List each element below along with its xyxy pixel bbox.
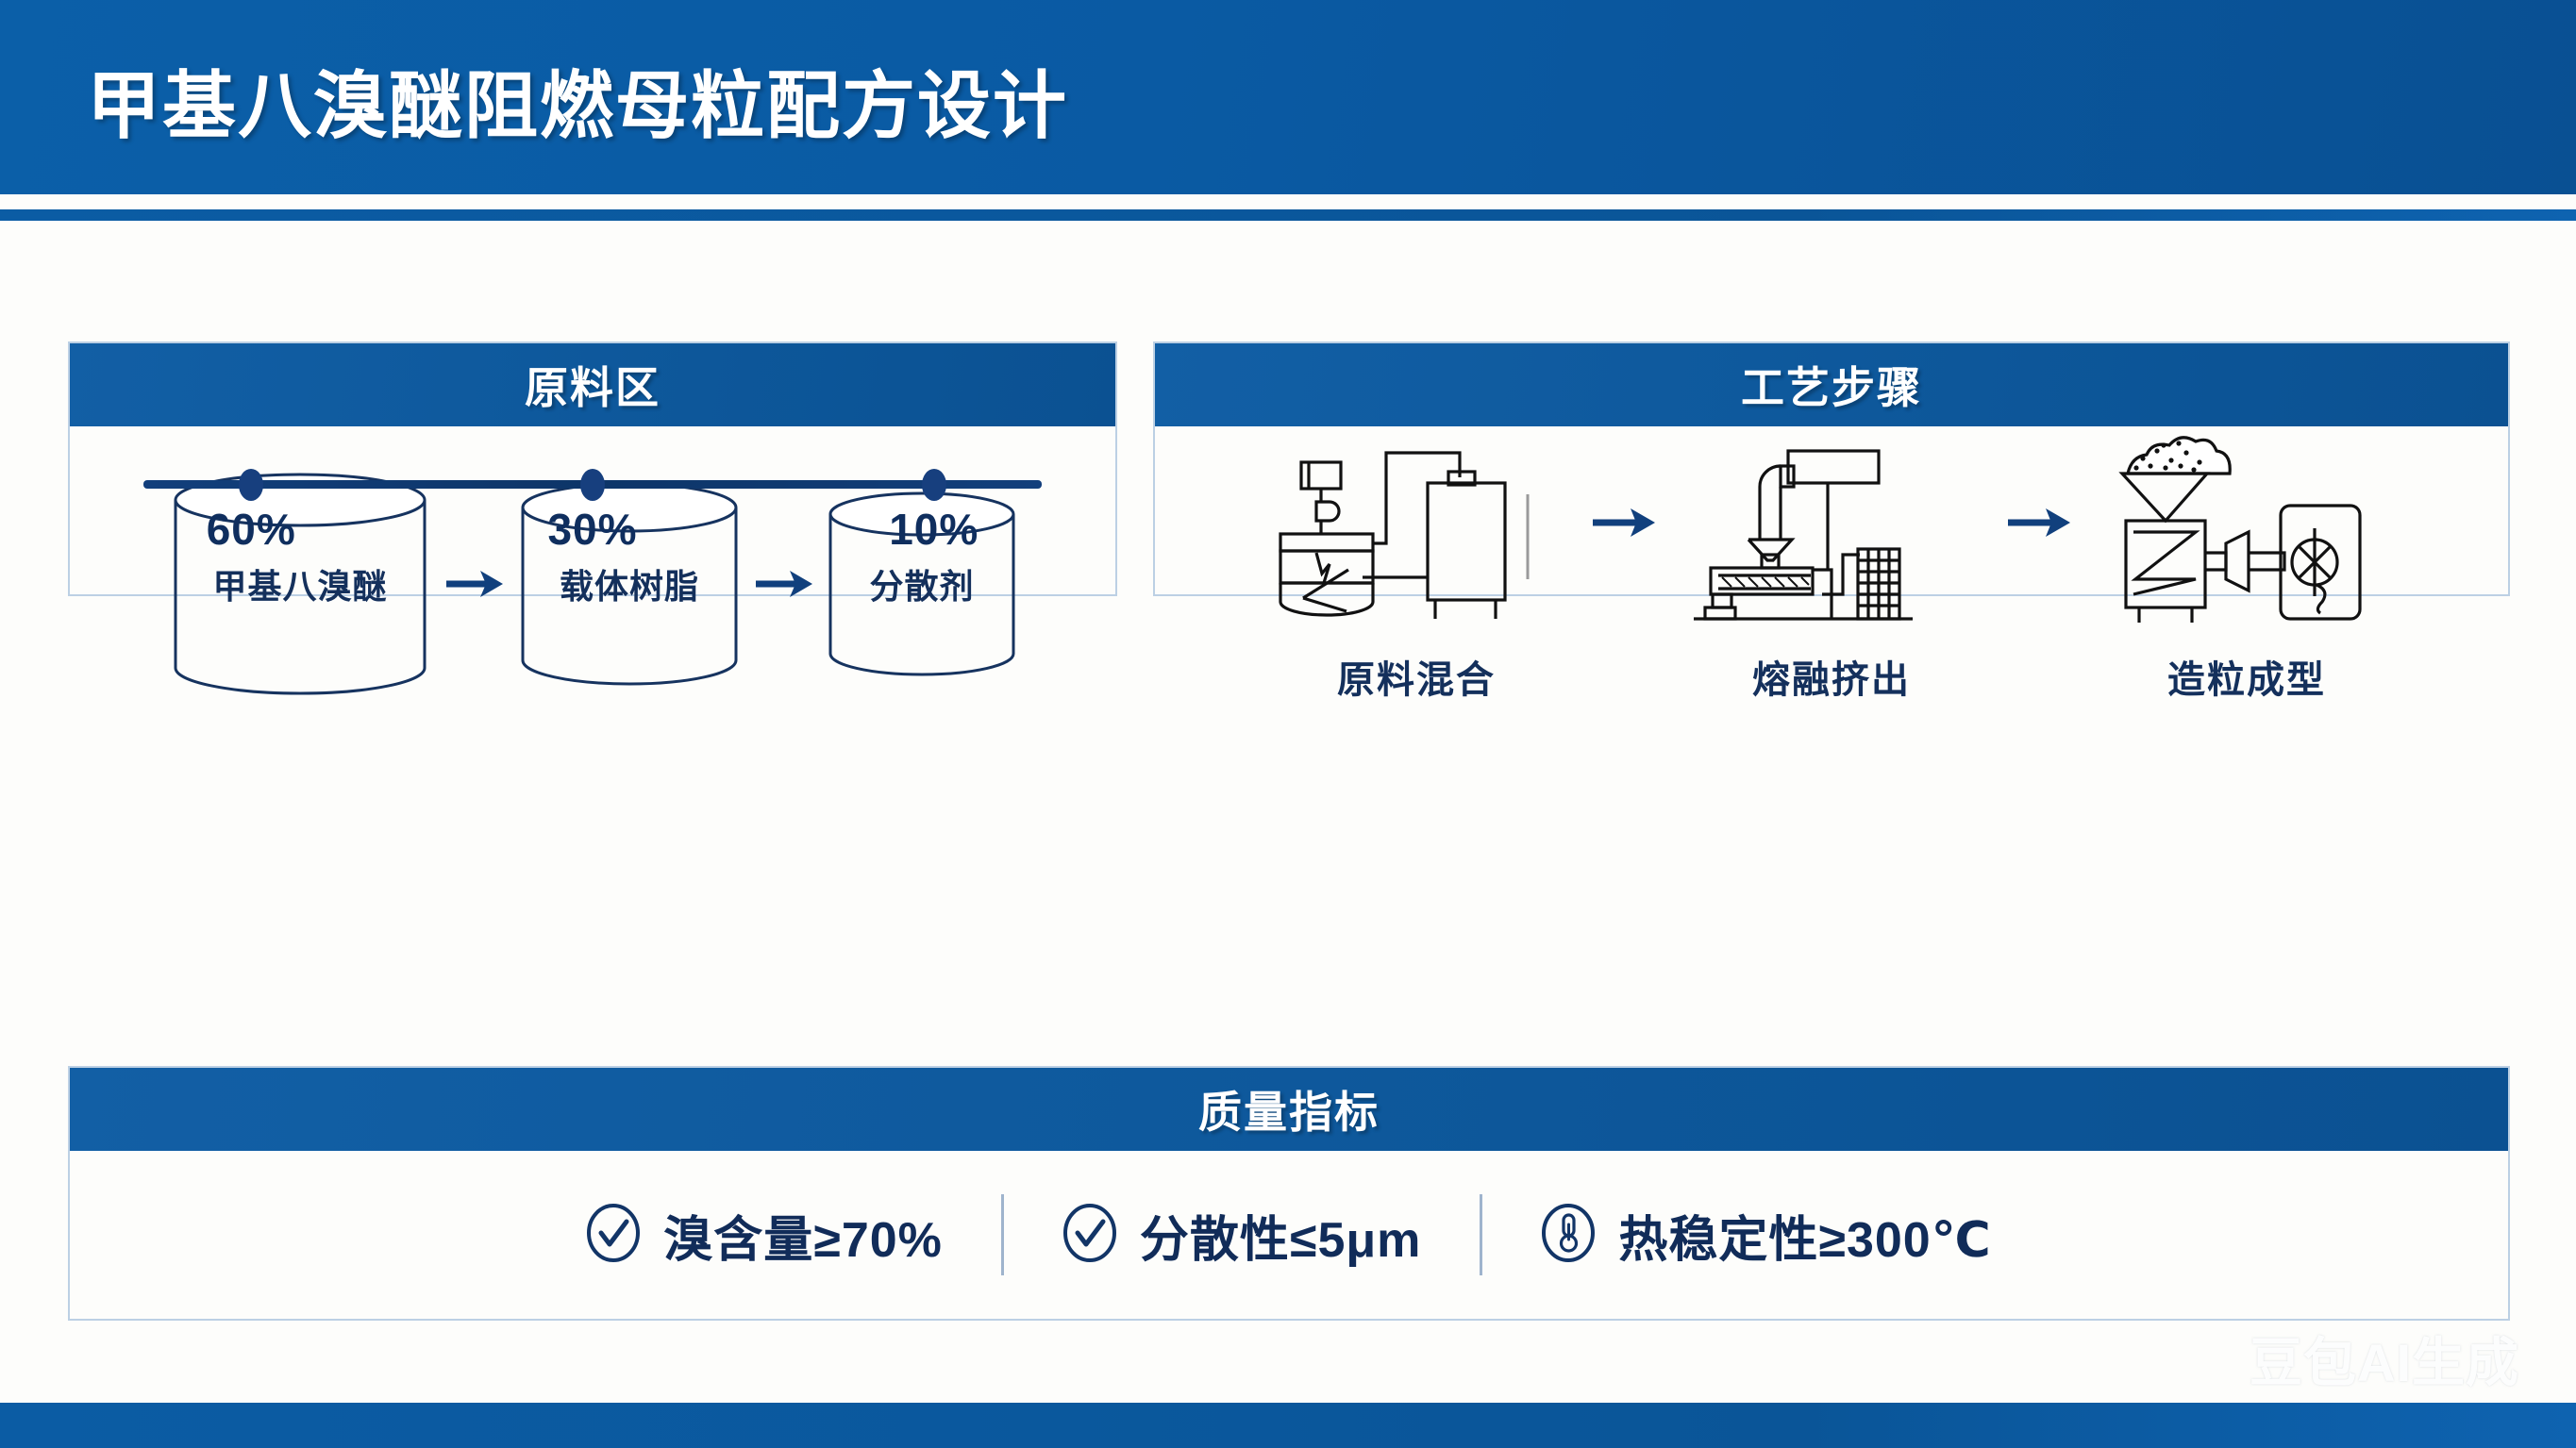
quality-panel-title: 质量指标 — [1198, 1078, 1380, 1140]
composition-dot-2 — [580, 469, 605, 501]
composition-percent-1: 60% — [207, 504, 296, 555]
quality-panel-body: 溴含量≥70% 分散性≤5μm 热稳定性≥300 — [70, 1151, 2508, 1319]
page-header: 甲基八溴醚阻燃母粒配方设计 — [0, 0, 2576, 194]
arrow-right-icon — [442, 565, 508, 603]
process-panel: 工艺步骤 — [1153, 341, 2510, 596]
watermark: 豆包AI生成 — [2250, 1321, 2519, 1397]
composition-dot-3 — [922, 469, 946, 501]
composition-dot-1 — [239, 469, 263, 501]
composition-scale: 60% 30% 10% — [143, 480, 1042, 560]
process-step-2-caption: 熔融挤出 — [1752, 649, 1911, 704]
process-step-1[interactable]: 原料混合 — [1261, 426, 1572, 704]
page-title: 甲基八溴醚阻燃母粒配方设计 — [87, 47, 1068, 153]
check-circle-icon — [1062, 1204, 1117, 1267]
arrow-right-icon — [751, 565, 817, 603]
material-cylinder-3-label: 分散剂 — [817, 559, 1027, 608]
quality-item-1-text: 溴含量≥70% — [663, 1200, 943, 1271]
process-step-2[interactable]: 熔融挤出 — [1676, 426, 1987, 704]
quality-panel: 质量指标 溴含量≥70% 分散性≤5μm — [68, 1066, 2510, 1321]
mixing-tank-icon — [1275, 426, 1558, 624]
materials-panel: 原料区 甲基八溴醚 — [68, 341, 1117, 596]
material-cylinder-1-label: 甲基八溴醚 — [159, 559, 442, 608]
material-cylinder-2-label: 载体树脂 — [508, 559, 751, 608]
composition-percent-2: 30% — [547, 504, 637, 555]
process-panel-title: 工艺步骤 — [1741, 354, 1922, 416]
composition-percent-3: 10% — [889, 504, 979, 555]
quality-item-3-text: 热稳定性≥300℃ — [1618, 1200, 1991, 1271]
quality-item-2[interactable]: 分散性≤5μm — [1004, 1200, 1480, 1271]
thermometer-circle-icon — [1541, 1204, 1596, 1267]
materials-panel-title: 原料区 — [525, 354, 661, 416]
pelletizer-icon — [2105, 426, 2388, 624]
quality-item-1[interactable]: 溴含量≥70% — [527, 1200, 1001, 1271]
process-step-3-caption: 造粒成型 — [2167, 649, 2326, 704]
process-step-1-caption: 原料混合 — [1337, 649, 1496, 704]
materials-panel-body: 甲基八溴醚 载体树脂 — [70, 426, 1115, 594]
process-panel-header: 工艺步骤 — [1155, 343, 2508, 426]
header-accent-stripe — [0, 209, 2576, 221]
process-panel-body: 原料混合 — [1155, 426, 2508, 594]
materials-panel-header: 原料区 — [70, 343, 1115, 426]
quality-item-3[interactable]: 热稳定性≥300℃ — [1482, 1200, 2049, 1271]
arrow-right-icon — [1987, 426, 2091, 543]
quality-panel-header: 质量指标 — [70, 1068, 2508, 1151]
extruder-icon — [1690, 426, 1973, 624]
quality-item-2-text: 分散性≤5μm — [1140, 1200, 1422, 1271]
page-footer-stripe — [0, 1403, 2576, 1448]
process-step-3[interactable]: 造粒成型 — [2091, 426, 2402, 704]
composition-track — [143, 480, 1042, 489]
composition-labels: 60% 30% 10% — [143, 504, 1042, 560]
arrow-right-icon — [1572, 426, 1676, 543]
check-circle-icon — [586, 1204, 641, 1267]
